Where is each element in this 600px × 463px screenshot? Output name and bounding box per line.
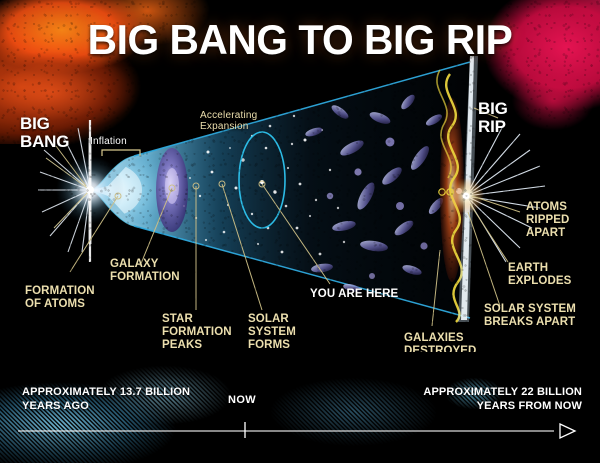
label-earth-explodes: EARTH EXPLODES — [508, 262, 571, 288]
label-galaxy-formation: GALAXY FORMATION — [110, 258, 180, 284]
label-accelerating-expansion: Accelerating Expansion — [200, 110, 257, 132]
page-title: BIG BANG TO BIG RIP — [9, 16, 591, 64]
label-big-bang: BIG BANG — [20, 115, 69, 150]
infographic-poster: BIG BANG TO BIG RIP BIG BANG BIG RIP Inf… — [0, 0, 600, 463]
timeline-arrow-icon — [560, 424, 575, 438]
galaxy-cluster — [304, 93, 445, 294]
label-inflation: Inflation — [90, 136, 127, 147]
label-formation-of-atoms: FORMATION OF ATOMS — [25, 285, 95, 311]
label-atoms-ripped-apart: ATOMS RIPPED APART — [526, 201, 569, 240]
present-epoch-ellipse — [239, 132, 285, 228]
label-big-rip: BIG RIP — [478, 100, 508, 135]
label-solar-system-breaks-apart: SOLAR SYSTEM BREAKS APART — [484, 303, 576, 329]
timeline-band: APPROXIMATELY 13.7 BILLION YEARS AGO NOW… — [0, 352, 600, 463]
label-star-formation-peaks: STAR FORMATION PEAKS — [162, 313, 232, 352]
timeline-axis — [0, 352, 600, 463]
label-you-are-here: YOU ARE HERE — [310, 288, 398, 301]
pink-paint-splash-secondary — [505, 60, 600, 150]
label-solar-system-forms: SOLAR SYSTEM FORMS — [248, 313, 296, 352]
